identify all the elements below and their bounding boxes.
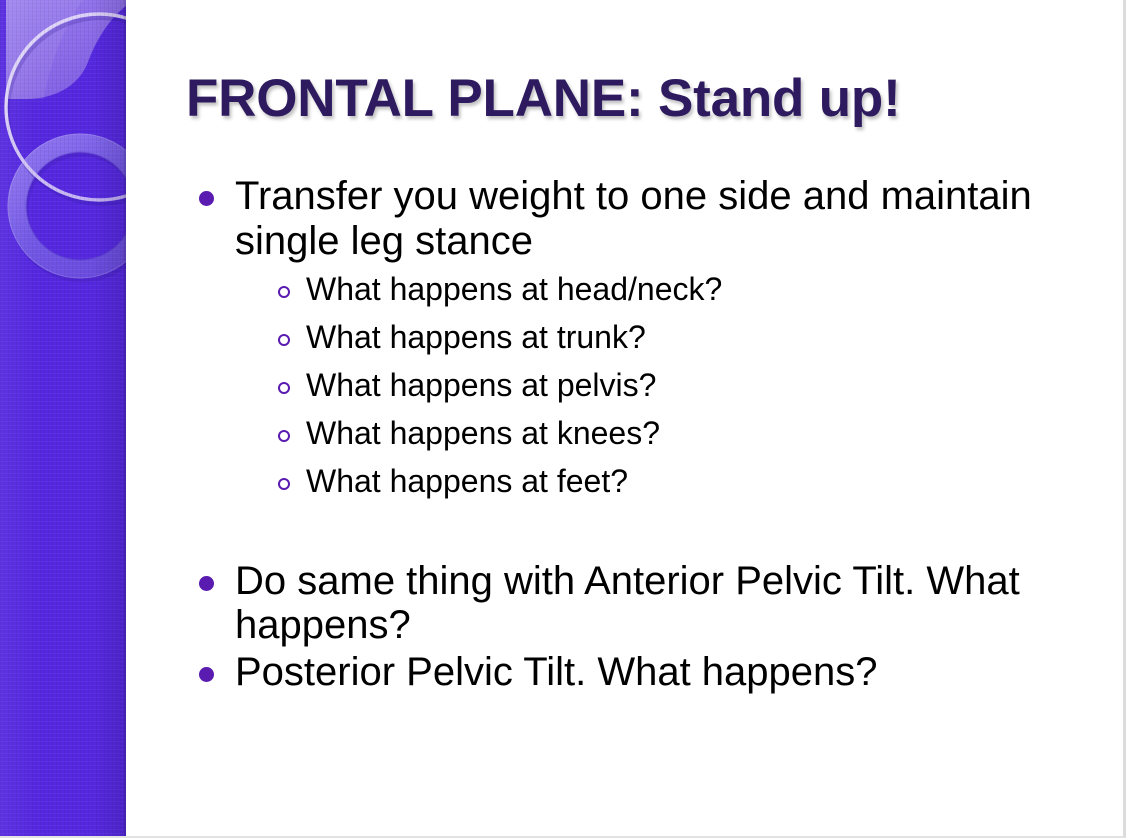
filled-circle-bullet-icon <box>199 191 214 206</box>
sub-bullet-item: What happens at trunk? <box>274 321 1106 353</box>
hollow-circle-bullet-icon <box>278 286 290 298</box>
sub-bullet-text: What happens at feet? <box>306 463 628 499</box>
filled-circle-bullet-icon <box>199 576 214 591</box>
slide-canvas: FRONTAL PLANE: Stand up! Transfer you we… <box>0 0 1126 838</box>
hollow-circle-bullet-icon <box>278 334 290 346</box>
sub-bullet-text: What happens at head/neck? <box>306 271 722 307</box>
bullet-text: Posterior Pelvic Tilt. What happens? <box>235 650 878 694</box>
thick-circle-ring <box>8 134 126 278</box>
hollow-circle-bullet-icon <box>278 430 290 442</box>
bullet-text: Do same thing with Anterior Pelvic Tilt.… <box>235 559 1020 648</box>
blank-paragraph-spacer <box>196 513 1106 559</box>
sidebar-decoration-graphic <box>0 0 126 838</box>
sub-bullet-item: What happens at head/neck? <box>274 273 1106 305</box>
sub-bullet-item: What happens at pelvis? <box>274 369 1106 401</box>
slide-title: FRONTAL PLANE: Stand up! <box>186 70 1086 128</box>
bullet-list-level2: What happens at head/neck? What happens … <box>235 273 1106 497</box>
hollow-circle-bullet-icon <box>278 382 290 394</box>
hollow-circle-bullet-icon <box>278 478 290 490</box>
bullet-list-level1: Transfer you weight to one side and main… <box>196 174 1106 695</box>
bullet-item: Transfer you weight to one side and main… <box>196 174 1106 497</box>
slide-body: Transfer you weight to one side and main… <box>196 174 1106 697</box>
sub-bullet-item: What happens at feet? <box>274 465 1106 497</box>
purple-accent-band <box>0 0 126 838</box>
sub-bullet-text: What happens at trunk? <box>306 319 646 355</box>
sub-bullet-text: What happens at pelvis? <box>306 367 656 403</box>
sub-bullet-item: What happens at knees? <box>274 417 1106 449</box>
bullet-item: Posterior Pelvic Tilt. What happens? <box>196 650 1106 695</box>
bullet-item: Do same thing with Anterior Pelvic Tilt.… <box>196 559 1106 649</box>
sub-bullet-text: What happens at knees? <box>306 415 660 451</box>
filled-circle-bullet-icon <box>199 667 214 682</box>
bullet-text: Transfer you weight to one side and main… <box>235 174 1032 263</box>
